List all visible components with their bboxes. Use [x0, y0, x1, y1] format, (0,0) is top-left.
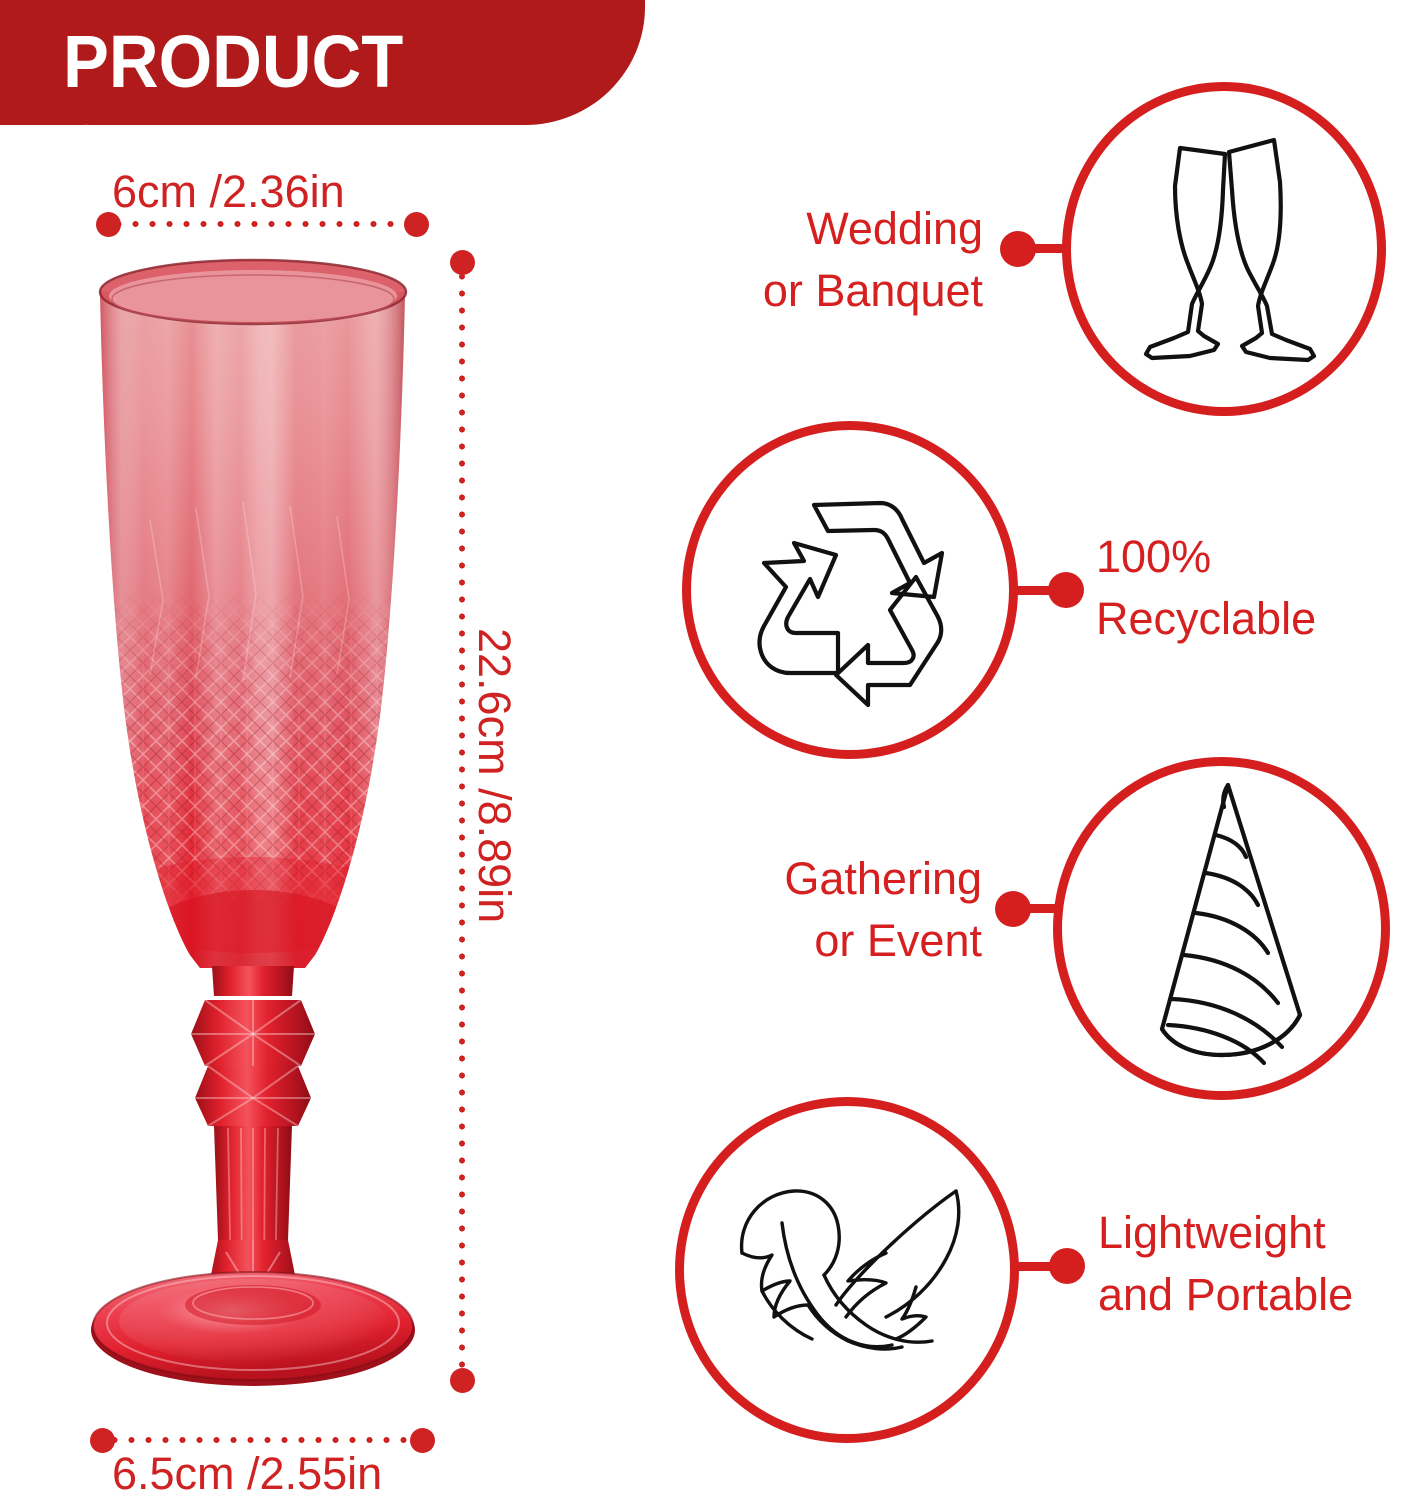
feature-line2: Recyclable: [1096, 593, 1316, 644]
dimension-endpoint-top-left: [96, 212, 121, 237]
feather-icon: [720, 1175, 982, 1365]
glass-base: [91, 1272, 415, 1386]
dimension-endpoint-top-right: [404, 212, 429, 237]
feature-line1: Wedding: [806, 203, 983, 254]
feature-line2: and Portable: [1098, 1269, 1353, 1320]
feature-label-wedding: Wedding or Banquet: [683, 198, 983, 322]
feature-connector-dot: [1048, 572, 1084, 608]
dimension-endpoint-bottom-right: [410, 1428, 435, 1453]
party-hat-icon: [1138, 777, 1316, 1079]
dimension-line-top: [110, 221, 422, 227]
feature-line1: 100%: [1096, 531, 1211, 582]
feature-label-recyclable: 100% Recyclable: [1096, 526, 1403, 650]
dimension-label-top: 6cm /2.36in: [112, 165, 345, 219]
feature-label-lightweight: Lightweight and Portable: [1098, 1202, 1403, 1326]
dimension-label-bottom: 6.5cm /2.55in: [112, 1447, 382, 1501]
feature-line2: or Event: [814, 915, 982, 966]
glass-stem: [191, 966, 315, 1316]
dimension-label-side: 22.6cm /8.89in: [469, 628, 519, 923]
feature-label-gathering: Gathering or Event: [676, 848, 982, 972]
feature-line1: Gathering: [784, 853, 982, 904]
dimension-endpoint-side-top: [450, 250, 475, 275]
clinking-champagne-glasses-icon: [1122, 118, 1332, 380]
dimension-line-side: [459, 268, 465, 1373]
glass-bowl: [100, 260, 406, 1010]
feature-connector-dot: [1049, 1248, 1085, 1284]
feature-line1: Lightweight: [1098, 1207, 1326, 1258]
feature-line2: or Banquet: [763, 265, 983, 316]
recycle-icon: [728, 467, 974, 713]
dimension-endpoint-side-bottom: [450, 1368, 475, 1393]
dimension-line-bottom: [106, 1437, 422, 1443]
